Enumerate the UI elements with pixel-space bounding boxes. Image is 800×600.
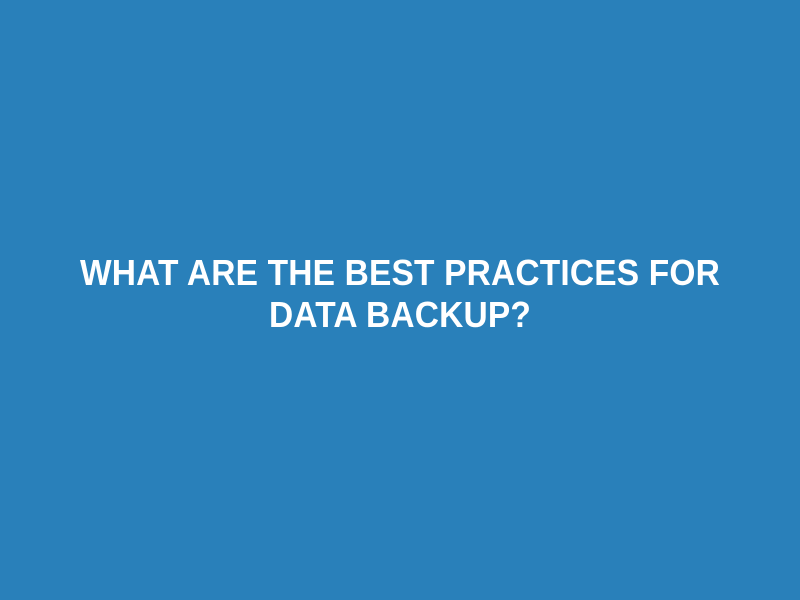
article-header-banner: WHAT ARE THE BEST PRACTICES FOR DATA BAC… (0, 0, 800, 600)
page-title: WHAT ARE THE BEST PRACTICES FOR DATA BAC… (65, 252, 735, 336)
headline-block: WHAT ARE THE BEST PRACTICES FOR DATA BAC… (0, 252, 800, 336)
page-title-line-2: DATA BACKUP? (65, 294, 735, 336)
page-title-line-1: WHAT ARE THE BEST PRACTICES FOR (65, 252, 735, 294)
